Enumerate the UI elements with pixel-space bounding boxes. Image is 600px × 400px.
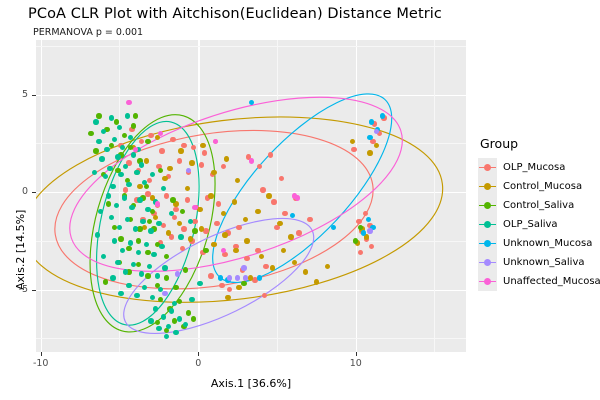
point-control-saliva [137, 226, 142, 231]
point-control-mucosa [374, 143, 379, 148]
point-olp-saliva [125, 113, 130, 118]
point-olp-saliva [148, 318, 153, 323]
point-olp-saliva [134, 293, 139, 298]
point-control-mucosa [178, 148, 183, 153]
point-control-mucosa [288, 234, 293, 239]
legend-point-glyph [484, 164, 491, 171]
point-olp-mucosa [170, 137, 175, 142]
point-olp-saliva [156, 221, 161, 226]
point-control-mucosa [277, 221, 282, 226]
point-olp-saliva [131, 152, 136, 157]
point-control-saliva [136, 238, 141, 243]
point-olp-saliva [151, 252, 156, 257]
point-control-mucosa [199, 226, 204, 231]
legend-key-olp-saliva [478, 215, 497, 234]
point-olp-mucosa [363, 211, 368, 216]
point-olp-saliva [99, 156, 104, 161]
x-tick-mark [198, 352, 199, 356]
point-olp-saliva [115, 260, 120, 265]
point-control-saliva [191, 316, 196, 321]
point-control-saliva [106, 201, 111, 206]
point-olp-saliva [197, 281, 202, 286]
ellipse-unaffected-mucosa [49, 62, 423, 306]
x-tick-label: -10 [29, 358, 53, 369]
point-control-mucosa [225, 295, 230, 300]
point-olp-saliva [110, 275, 115, 280]
point-olp-saliva [128, 240, 133, 245]
point-olp-saliva [134, 170, 139, 175]
legend-item-control-mucosa[interactable]: Control_Mucosa [478, 177, 598, 196]
point-control-mucosa [208, 193, 213, 198]
point-olp-mucosa [208, 273, 213, 278]
x-axis-label: Axis.1 [36.6%] [36, 377, 466, 390]
confidence-ellipses [36, 40, 466, 352]
point-control-saliva [114, 119, 119, 124]
point-olp-saliva [189, 297, 194, 302]
point-control-saliva [192, 228, 197, 233]
point-control-mucosa [303, 269, 308, 274]
point-unaffected-mucosa [295, 195, 300, 200]
point-control-saliva [136, 262, 141, 267]
point-olp-saliva [137, 197, 142, 202]
point-olp-saliva [139, 162, 144, 167]
legend-key-olp-mucosa [478, 158, 497, 177]
legend-item-olp-saliva[interactable]: OLP_Saliva [478, 215, 598, 234]
legend-item-unknown-mucosa[interactable]: Unknown_Mucosa [478, 234, 598, 253]
point-control-saliva [177, 299, 182, 304]
point-olp-saliva [140, 219, 145, 224]
point-control-saliva [145, 273, 150, 278]
point-olp-saliva [155, 273, 160, 278]
legend-label: Unknown_Mucosa [503, 238, 592, 249]
legend-key-control-mucosa [478, 177, 497, 196]
point-olp-saliva [118, 291, 123, 296]
point-olp-saliva [139, 271, 144, 276]
legend-key-control-saliva [478, 196, 497, 215]
point-control-saliva [353, 238, 358, 243]
point-olp-mucosa [244, 256, 249, 261]
point-control-mucosa [255, 209, 260, 214]
point-olp-saliva [188, 219, 193, 224]
point-control-mucosa [266, 193, 271, 198]
y-axis-label: Axis.2 [14.5%] [14, 210, 27, 290]
x-tick-label: 10 [344, 358, 368, 369]
point-olp-mucosa [307, 217, 312, 222]
point-olp-saliva [118, 172, 123, 177]
point-olp-saliva [148, 228, 153, 233]
legend-point-glyph [484, 183, 491, 190]
point-unknown-saliva [235, 275, 240, 280]
point-unknown-saliva [367, 228, 372, 233]
x-tick-mark [356, 352, 357, 356]
legend-label: OLP_Saliva [503, 219, 558, 230]
point-olp-mucosa [192, 219, 197, 224]
point-control-mucosa [259, 254, 264, 259]
point-olp-saliva [178, 234, 183, 239]
point-olp-mucosa [181, 226, 186, 231]
point-olp-saliva [96, 139, 101, 144]
point-control-mucosa [270, 265, 275, 270]
point-olp-saliva [115, 154, 120, 159]
point-olp-saliva [162, 265, 167, 270]
point-olp-saliva [126, 182, 131, 187]
y-tick-label: 0 [2, 186, 28, 197]
point-control-mucosa [211, 170, 216, 175]
x-tick-label: 0 [186, 358, 210, 369]
plot-panel [36, 40, 466, 352]
point-control-mucosa [233, 248, 238, 253]
point-olp-saliva [117, 225, 122, 230]
permanova-subtitle: PERMANOVA p = 0.001 [33, 27, 143, 38]
legend-label: Control_Saliva [503, 200, 574, 211]
point-olp-mucosa [177, 158, 182, 163]
point-olp-mucosa [282, 211, 287, 216]
point-olp-mucosa [271, 199, 276, 204]
pcoa-plot-figure: PCoA CLR Plot with Aitchison(Euclidean) … [0, 0, 600, 400]
point-olp-mucosa [199, 162, 204, 167]
point-control-mucosa [222, 232, 227, 237]
point-olp-saliva [177, 316, 182, 321]
point-control-saliva [96, 113, 101, 118]
legend-items: OLP_MucosaControl_MucosaControl_SalivaOL… [478, 158, 598, 291]
point-olp-mucosa [203, 228, 208, 233]
legend-title: Group [478, 136, 598, 151]
point-control-mucosa [314, 279, 319, 284]
point-olp-saliva [145, 207, 150, 212]
point-olp-saliva [126, 283, 131, 288]
point-olp-saliva [156, 326, 161, 331]
point-unknown-mucosa [361, 230, 366, 235]
point-olp-saliva [109, 115, 114, 120]
point-unknown-saliva [227, 275, 232, 280]
y-tick-mark [32, 290, 36, 291]
point-unknown-mucosa [366, 217, 371, 222]
point-olp-saliva [104, 147, 109, 152]
point-olp-mucosa [159, 148, 164, 153]
point-control-mucosa [185, 186, 190, 191]
legend-point-glyph [484, 240, 491, 247]
point-control-mucosa [224, 156, 229, 161]
legend-point-glyph [484, 259, 491, 266]
point-olp-saliva [106, 193, 111, 198]
point-unaffected-mucosa [133, 147, 138, 152]
legend: Group OLP_MucosaControl_MucosaControl_Sa… [478, 136, 598, 291]
legend-point-glyph [484, 202, 491, 209]
point-control-saliva [126, 246, 131, 251]
point-control-saliva [88, 131, 93, 136]
point-olp-saliva [93, 119, 98, 124]
point-unaffected-mucosa [155, 201, 160, 206]
point-control-mucosa [166, 230, 171, 235]
legend-key-unknown-mucosa [478, 234, 497, 253]
y-tick-label: 5 [2, 89, 28, 100]
point-control-mucosa [167, 166, 172, 171]
point-olp-mucosa [214, 221, 219, 226]
point-olp-saliva [169, 308, 174, 313]
point-olp-mucosa [185, 197, 190, 202]
point-control-mucosa [325, 264, 330, 269]
point-olp-mucosa [202, 150, 207, 155]
point-control-mucosa [162, 176, 167, 181]
point-control-saliva [145, 139, 150, 144]
point-olp-mucosa [260, 187, 265, 192]
point-olp-saliva [125, 217, 130, 222]
point-olp-saliva [173, 330, 178, 335]
y-tick-mark [32, 192, 36, 193]
legend-point-glyph [484, 278, 491, 285]
point-olp-saliva [122, 195, 127, 200]
point-control-mucosa [177, 221, 182, 226]
point-control-saliva [133, 113, 138, 118]
legend-item-unaffected-mucosa[interactable]: Unaffected_Mucosa [478, 272, 598, 291]
legend-label: Unknown_Saliva [503, 257, 585, 268]
point-control-mucosa [292, 260, 297, 265]
legend-key-unaffected-mucosa [478, 272, 497, 291]
legend-item-olp-mucosa[interactable]: OLP_Mucosa [478, 158, 598, 177]
point-unknown-saliva [243, 275, 248, 280]
legend-item-control-saliva[interactable]: Control_Saliva [478, 196, 598, 215]
point-olp-mucosa [356, 219, 361, 224]
legend-label: Control_Mucosa [503, 181, 582, 192]
y-tick-mark [32, 95, 36, 96]
point-olp-mucosa [236, 225, 241, 230]
point-control-saliva [103, 279, 108, 284]
legend-point-glyph [484, 221, 491, 228]
point-control-mucosa [232, 199, 237, 204]
point-olp-saliva [110, 184, 115, 189]
point-control-mucosa [244, 238, 249, 243]
point-control-mucosa [367, 150, 372, 155]
point-olp-mucosa [263, 264, 268, 269]
point-olp-saliva [161, 314, 166, 319]
x-tick-mark [41, 352, 42, 356]
point-unknown-saliva [162, 291, 167, 296]
point-control-saliva [164, 275, 169, 280]
point-control-saliva [147, 219, 152, 224]
point-control-saliva [131, 123, 136, 128]
point-olp-mucosa [351, 147, 356, 152]
legend-key-unknown-saliva [478, 253, 497, 272]
point-olp-saliva [95, 232, 100, 237]
point-unknown-saliva [241, 265, 246, 270]
point-control-mucosa [248, 275, 253, 280]
point-olp-mucosa [255, 248, 260, 253]
point-unknown-mucosa [369, 119, 374, 124]
point-control-mucosa [144, 158, 149, 163]
legend-item-unknown-saliva[interactable]: Unknown_Saliva [478, 253, 598, 272]
legend-label: OLP_Mucosa [503, 162, 565, 173]
point-control-saliva [118, 236, 123, 241]
legend-label: Unaffected_Mucosa [503, 276, 600, 287]
point-olp-mucosa [181, 143, 186, 148]
point-control-mucosa [189, 160, 194, 165]
point-olp-saliva [147, 264, 152, 269]
point-unknown-mucosa [218, 275, 223, 280]
page-title: PCoA CLR Plot with Aitchison(Euclidean) … [28, 6, 442, 22]
point-olp-saliva [133, 226, 138, 231]
point-control-mucosa [200, 143, 205, 148]
point-unknown-mucosa [257, 275, 262, 280]
point-olp-mucosa [216, 201, 221, 206]
point-control-mucosa [197, 207, 202, 212]
point-control-saliva [358, 225, 363, 230]
point-olp-mucosa [296, 230, 301, 235]
point-control-saliva [203, 248, 208, 253]
point-unaffected-mucosa [126, 100, 131, 105]
point-control-saliva [170, 197, 175, 202]
point-olp-mucosa [148, 133, 153, 138]
point-control-saliva [93, 148, 98, 153]
point-olp-saliva [112, 238, 117, 243]
point-unknown-mucosa [380, 113, 385, 118]
point-unknown-mucosa [367, 135, 372, 140]
point-control-mucosa [188, 236, 193, 241]
point-olp-mucosa [219, 283, 224, 288]
point-control-saliva [145, 250, 150, 255]
